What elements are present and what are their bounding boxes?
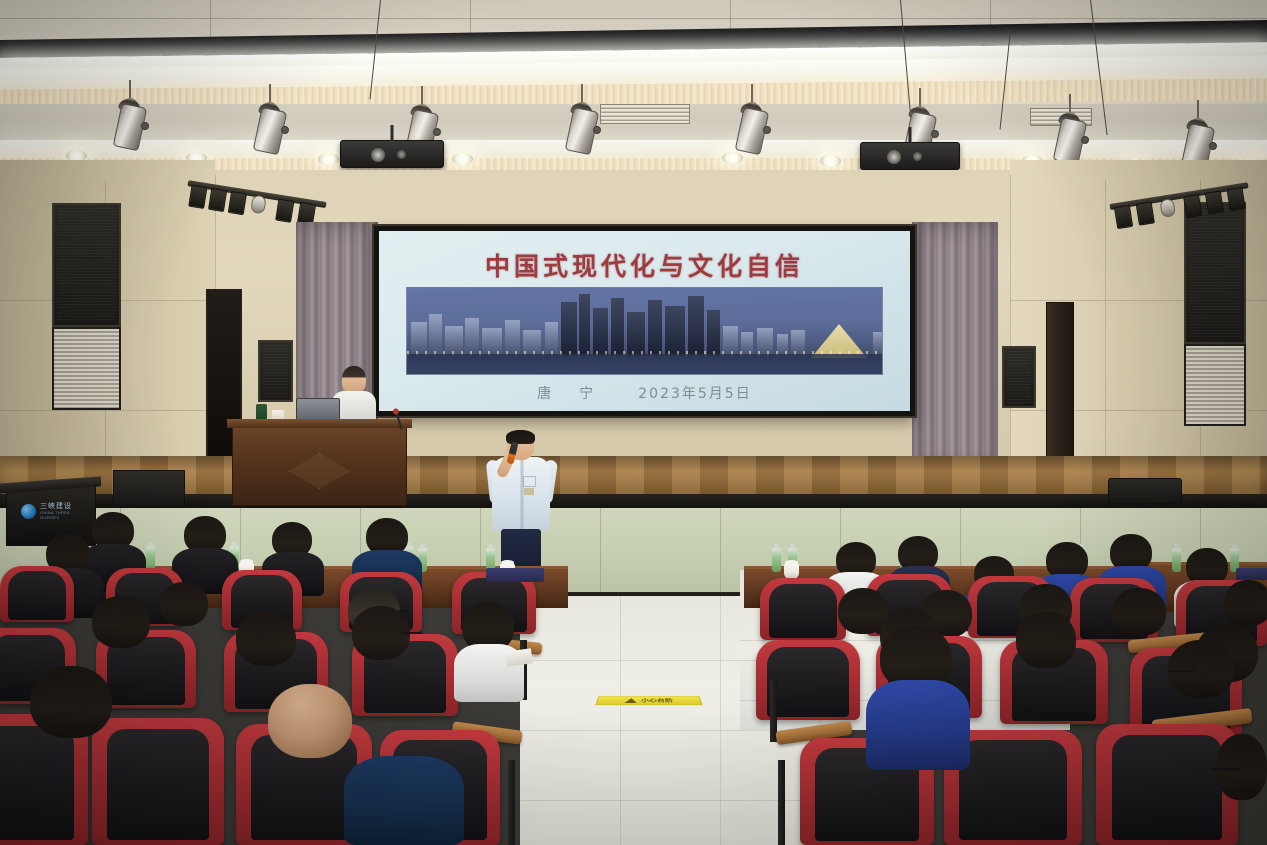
truss-fixture xyxy=(250,194,267,214)
water-bottle xyxy=(1172,548,1181,572)
projector-lens xyxy=(913,152,922,161)
projection-screen[interactable]: 中国式现代化与文化自信 xyxy=(374,226,915,416)
auditorium-seat[interactable] xyxy=(1096,724,1238,845)
spotlight-knob xyxy=(593,126,601,134)
spotlight-knob xyxy=(763,126,771,134)
truss-fixture xyxy=(228,191,247,215)
warning-triangle-icon xyxy=(625,698,638,703)
auditorium-seat[interactable] xyxy=(0,566,74,622)
truss-fixture xyxy=(188,185,207,209)
truss-fixture xyxy=(1136,201,1155,225)
seat-leg xyxy=(508,760,515,845)
wall-speaker xyxy=(1002,346,1036,408)
company-logo-text: 三峡建设 xyxy=(40,502,85,510)
ceiling-seam xyxy=(0,18,1267,19)
recessed-downlight xyxy=(452,153,473,165)
seat-leg xyxy=(778,760,785,845)
truss-fixture xyxy=(1205,191,1224,215)
water-bottle xyxy=(772,548,781,572)
recessed-downlight xyxy=(318,153,339,165)
door-right[interactable] xyxy=(1046,302,1074,470)
speaker-grille xyxy=(263,345,288,397)
truss-fixture xyxy=(1183,194,1202,218)
stage-spotlight xyxy=(248,84,292,164)
wall-speaker xyxy=(258,340,293,402)
speaker-grille xyxy=(57,208,116,322)
projector-lens xyxy=(371,148,385,162)
spotlight-knob xyxy=(141,122,149,130)
wall-seam xyxy=(0,410,215,411)
wall-speaker xyxy=(1184,202,1246,344)
lectern-ornament xyxy=(289,453,351,489)
slide-date: 2023年5月5日 xyxy=(638,386,751,402)
presenter-with-microphone xyxy=(487,430,557,582)
wall-seam xyxy=(1010,175,1011,465)
slide-byline: 唐 宁2023年5月5日 xyxy=(379,383,910,403)
projector-mount xyxy=(391,125,394,141)
stage-curtain-right xyxy=(912,222,998,472)
slide-title: 中国式现代化与文化自信 xyxy=(379,247,910,283)
lectern xyxy=(232,424,407,506)
spotlight-knob xyxy=(281,126,289,134)
floor-monitor-speaker xyxy=(1108,478,1182,504)
lectern-top xyxy=(227,419,412,428)
spotlight-knob xyxy=(931,130,939,138)
floor-caution-sign: 小心台阶 xyxy=(595,696,703,705)
presenter-badge xyxy=(524,488,534,495)
auditorium-photo: 中国式现代化与文化自信 xyxy=(0,0,1267,845)
truss-fixture xyxy=(275,199,294,223)
host-head xyxy=(342,366,366,394)
side-console: 三峡建设 CHINA THREE GORGES xyxy=(6,486,96,546)
slide-city-photo xyxy=(406,287,883,375)
recessed-downlight xyxy=(820,155,841,167)
company-logo: 三峡建设 CHINA THREE GORGES xyxy=(21,501,85,521)
auditorium-seat[interactable] xyxy=(92,718,224,845)
notebook xyxy=(486,568,544,582)
stage-spotlight xyxy=(730,84,774,164)
truss-fixture xyxy=(208,188,227,212)
truss-fixture xyxy=(1159,198,1176,218)
slide-presenter-name: 唐 宁 xyxy=(537,386,600,402)
notebook xyxy=(1236,568,1267,580)
speaker-grille xyxy=(1189,207,1241,339)
teacup xyxy=(784,563,799,579)
ceiling-air-vent xyxy=(600,104,690,124)
ceiling-projector xyxy=(340,140,444,168)
floor-monitor-speaker xyxy=(113,470,185,506)
presenter-shirt-placket xyxy=(521,460,524,530)
slide-surface: 中国式现代化与文化自信 xyxy=(379,231,910,411)
stage-spotlight xyxy=(560,84,604,164)
projector-lens xyxy=(887,150,901,164)
stage-spotlight xyxy=(108,80,152,160)
company-logo-subtext: CHINA THREE GORGES xyxy=(40,510,85,520)
photo-waterfront xyxy=(407,354,882,374)
presenter-hair xyxy=(506,430,535,444)
presenter-shirt-pocket xyxy=(523,476,536,487)
projector-lens xyxy=(397,150,406,159)
wall-speaker xyxy=(52,203,121,327)
spotlight-knob xyxy=(1081,136,1089,144)
floor-sign-text: 小心台阶 xyxy=(641,698,674,704)
spotlight-knob xyxy=(1209,142,1217,150)
window-with-blinds xyxy=(1184,344,1246,426)
window-with-blinds xyxy=(52,327,121,410)
wall-seam xyxy=(1105,180,1106,470)
water-bottle xyxy=(146,546,155,570)
company-logo-mark xyxy=(21,504,36,519)
spotlight-knob xyxy=(433,128,441,136)
auditorium-seat[interactable] xyxy=(760,578,846,640)
projector-mount xyxy=(909,127,912,143)
ceiling-projector xyxy=(860,142,960,170)
truss-fixture xyxy=(1114,205,1133,229)
truss-fixture xyxy=(1227,187,1246,211)
speaker-grille xyxy=(1007,351,1031,403)
